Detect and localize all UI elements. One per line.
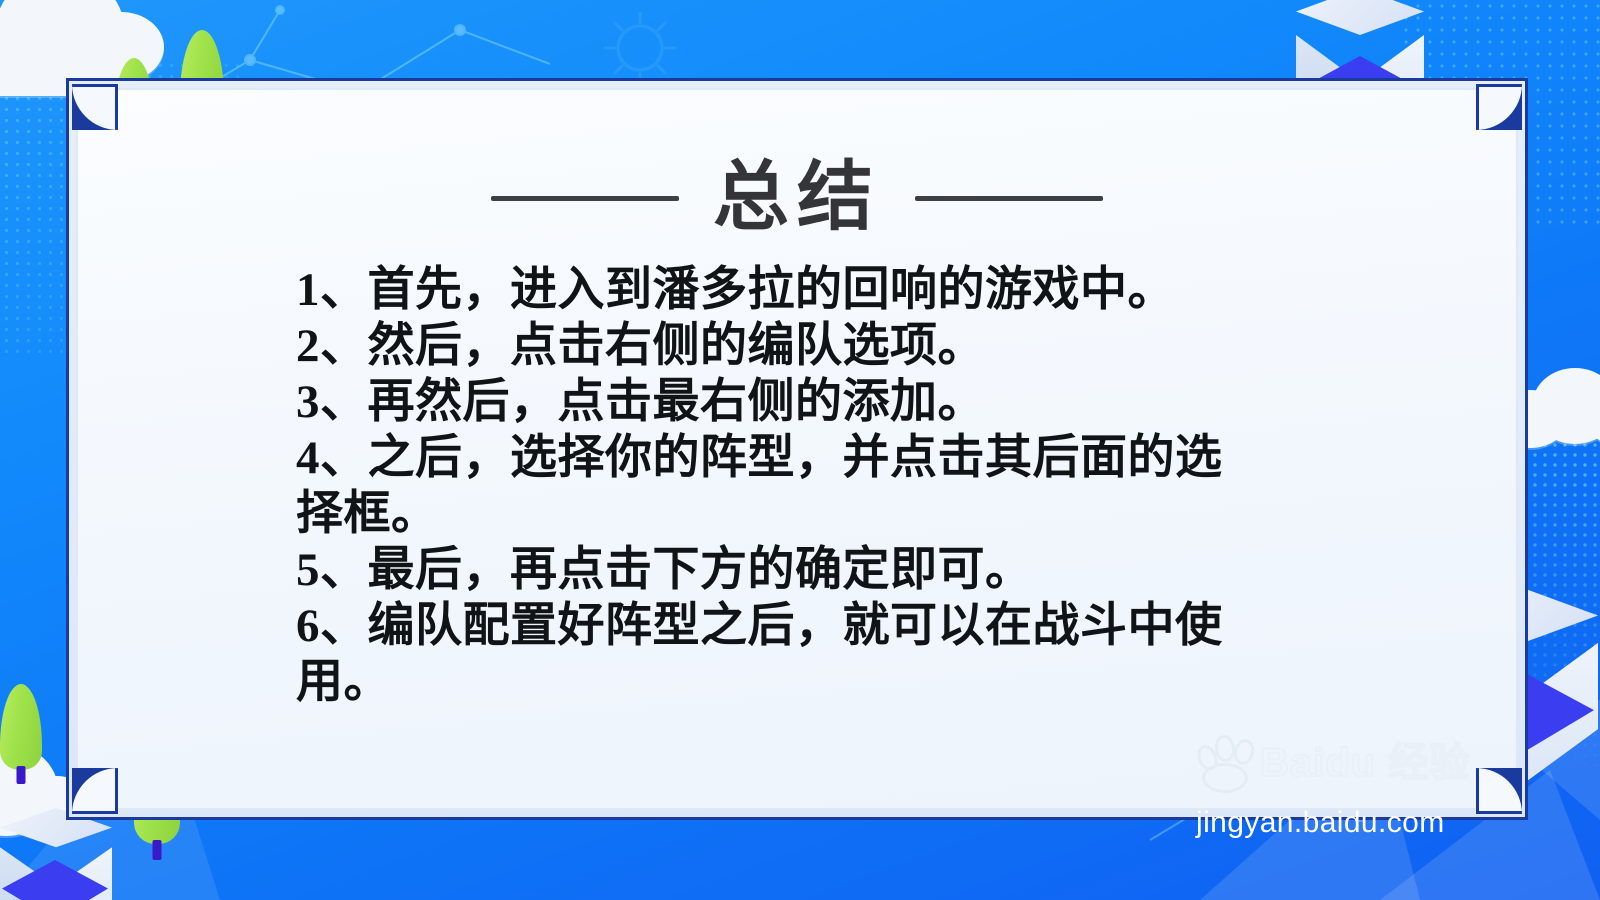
summary-step-5: 5、最后，再点击下方的确定即可。 <box>296 542 1256 598</box>
title-row: 总结 <box>76 160 1518 236</box>
page-title: 总结 <box>713 160 881 236</box>
summary-step-1: 1、首先，进入到潘多拉的回响的游戏中。 <box>296 262 1256 318</box>
summary-step-4: 4、之后，选择你的阵型，并点击其后面的选择框。 <box>296 430 1256 542</box>
summary-step-6: 6、编队配置好阵型之后，就可以在战斗中使用。 <box>296 598 1256 710</box>
card-corner-notch-top-right <box>1476 84 1522 130</box>
tree-bottom-left-a <box>0 684 42 784</box>
summary-steps-list: 1、首先，进入到潘多拉的回响的游戏中。 2、然后，点击右侧的编队选项。 3、再然… <box>296 262 1256 710</box>
watermark-url: jingyan.baidu.com <box>1196 806 1516 840</box>
card-corner-notch-top-left <box>72 84 118 130</box>
baidu-paw-icon <box>1196 733 1254 785</box>
summary-step-2: 2、然后，点击右侧的编队选项。 <box>296 318 1256 374</box>
summary-step-3: 3、再然后，点击最右侧的添加。 <box>296 374 1256 430</box>
watermark-brand: Baidu 经验 <box>1260 730 1470 788</box>
card-corner-notch-bottom-left <box>72 768 118 814</box>
baidu-watermark: Baidu 经验 <box>1196 728 1506 790</box>
title-rule-right <box>915 196 1103 201</box>
title-rule-left <box>491 196 679 201</box>
slide-canvas: 总结 1、首先，进入到潘多拉的回响的游戏中。 2、然后，点击右侧的编队选项。 3… <box>0 0 1600 900</box>
